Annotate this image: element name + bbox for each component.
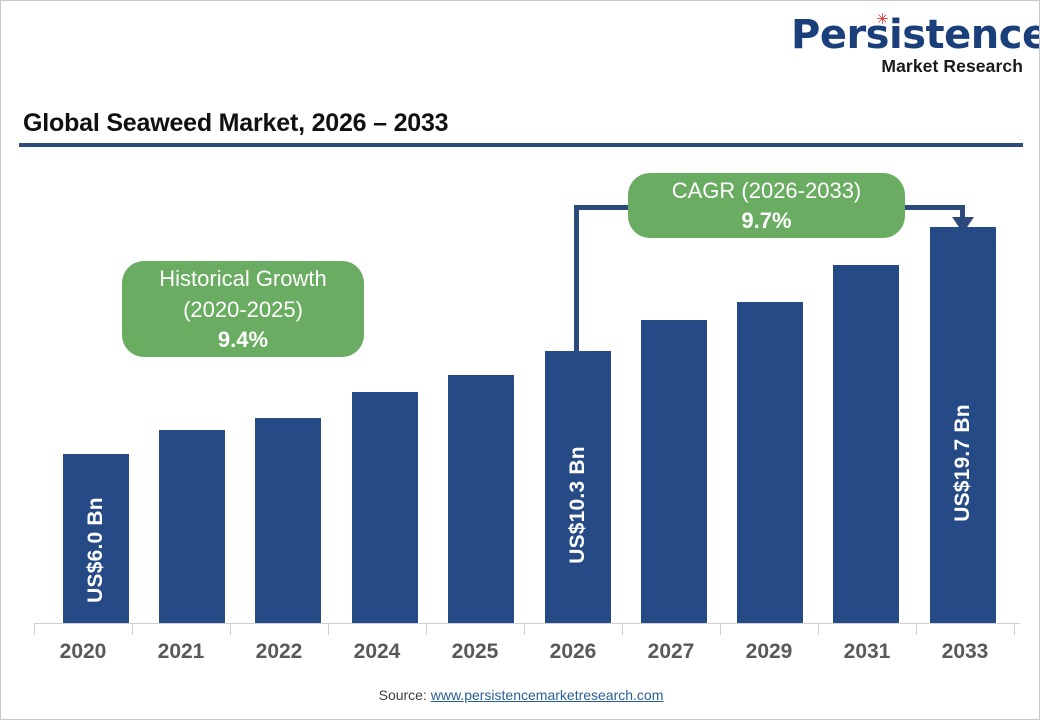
x-axis-tick xyxy=(328,624,329,635)
x-axis-tick xyxy=(426,624,427,635)
x-axis-label-2026: 2026 xyxy=(524,640,622,664)
historical-callout-line2: (2020-2025) xyxy=(183,294,303,325)
x-axis-tick xyxy=(524,624,525,635)
source-link[interactable]: www.persistencemarketresearch.com xyxy=(431,687,664,703)
x-axis-tick xyxy=(132,624,133,635)
bar-value-label-2026: US$10.3 Bn xyxy=(566,446,590,564)
x-axis-line xyxy=(34,623,1020,624)
bar-2026[interactable]: US$10.3 Bn xyxy=(545,351,611,623)
x-axis-tick xyxy=(916,624,917,635)
cagr-callout-value: 9.7% xyxy=(741,206,791,236)
bar-2033[interactable]: US$19.7 Bn xyxy=(930,227,996,623)
x-axis-tick xyxy=(818,624,819,635)
bar-2029[interactable] xyxy=(737,302,803,623)
bar-2021[interactable] xyxy=(159,430,225,623)
x-axis-label-2027: 2027 xyxy=(622,640,720,664)
historical-growth-callout[interactable]: Historical Growth (2020-2025) 9.4% xyxy=(122,261,364,357)
cagr-callout-line1: CAGR (2026-2033) xyxy=(672,175,862,206)
infographic-root: Persistence ✳ Market Research Global Sea… xyxy=(0,0,1040,720)
bar-chart-plot: US$6.0 Bn US$10.3 Bn US$19.7 Bn 2020 202… xyxy=(1,1,1040,720)
cagr-connector-vertical-left xyxy=(574,205,579,353)
bar-2022[interactable] xyxy=(255,418,321,623)
cagr-callout[interactable]: CAGR (2026-2033) 9.7% xyxy=(628,173,905,238)
source-line: Source: www.persistencemarketresearch.co… xyxy=(1,687,1040,703)
historical-callout-line1: Historical Growth xyxy=(159,263,326,294)
historical-callout-value: 9.4% xyxy=(218,325,268,355)
x-axis-tick xyxy=(1014,624,1015,635)
bar-2025[interactable] xyxy=(448,375,514,623)
bar-value-label-2033: US$19.7 Bn xyxy=(951,404,975,522)
bar-value-label-2020: US$6.0 Bn xyxy=(84,497,108,603)
x-axis-label-2022: 2022 xyxy=(230,640,328,664)
x-axis-tick xyxy=(720,624,721,635)
cagr-arrowhead-icon xyxy=(952,217,974,233)
x-axis-tick xyxy=(34,624,35,635)
x-axis-label-2024: 2024 xyxy=(328,640,426,664)
x-axis-label-2021: 2021 xyxy=(132,640,230,664)
x-axis-label-2025: 2025 xyxy=(426,640,524,664)
x-axis-label-2029: 2029 xyxy=(720,640,818,664)
bar-2031[interactable] xyxy=(833,265,899,623)
x-axis-label-2033: 2033 xyxy=(916,640,1014,664)
x-axis-tick xyxy=(622,624,623,635)
source-prefix: Source: xyxy=(379,687,431,703)
x-axis-label-2031: 2031 xyxy=(818,640,916,664)
bar-2024[interactable] xyxy=(352,392,418,623)
bar-2020[interactable]: US$6.0 Bn xyxy=(63,454,129,623)
bar-2027[interactable] xyxy=(641,320,707,623)
x-axis-tick xyxy=(230,624,231,635)
x-axis-label-2020: 2020 xyxy=(34,640,132,664)
